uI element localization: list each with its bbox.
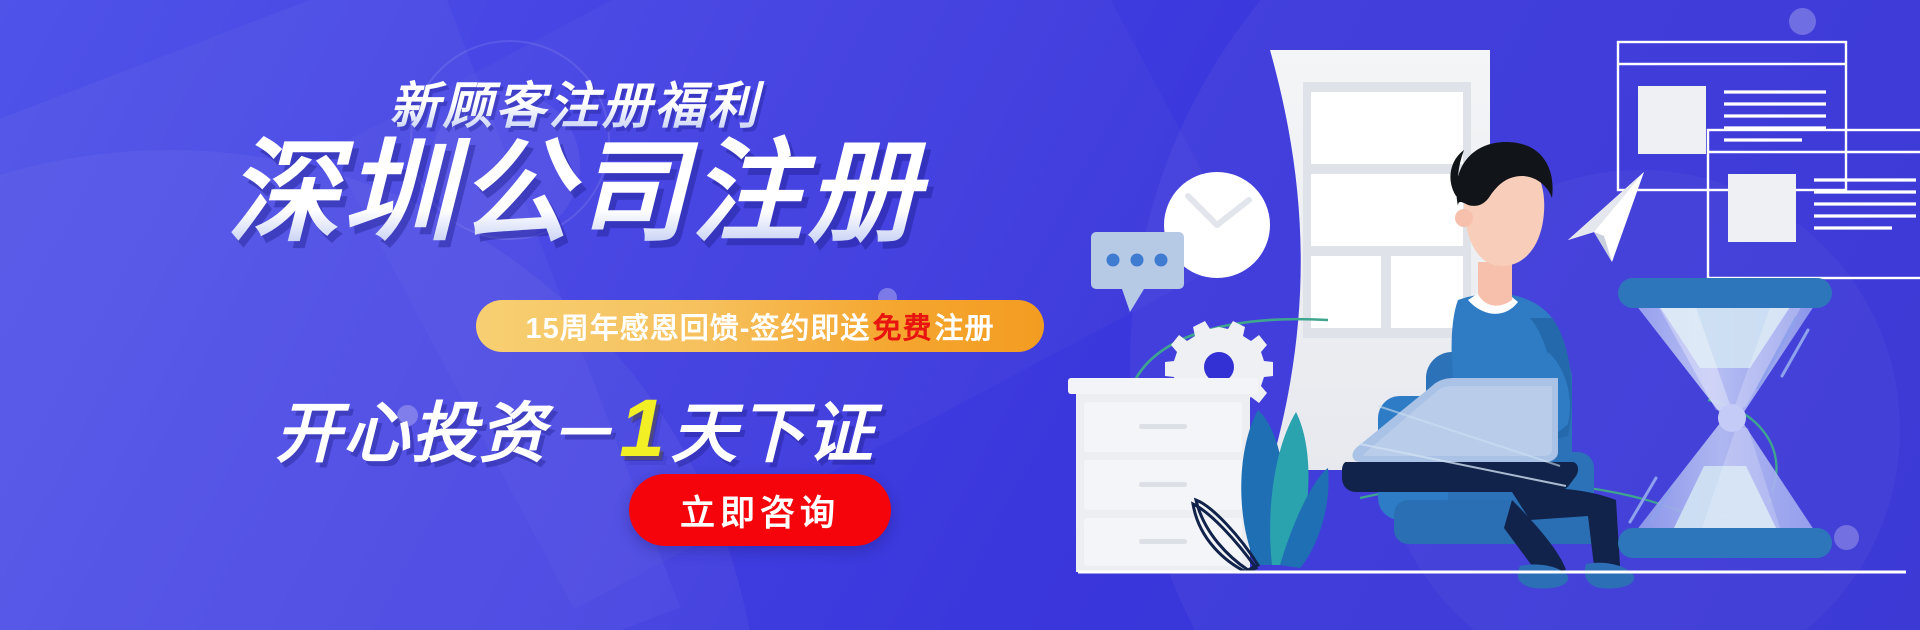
promo-pill-highlight: 免费 <box>870 305 934 347</box>
hourglass <box>1618 278 1832 558</box>
document-card-front <box>1708 130 1920 278</box>
promo-pill-prefix: 15周年感恩回馈-签约即送 <box>526 305 871 347</box>
consult-now-button[interactable]: 立即咨询 <box>629 474 891 546</box>
promo-pill: 15周年感恩回馈-签约即送 免费 注册 <box>476 300 1044 352</box>
sub-headline-number: 1 <box>615 383 671 474</box>
hero-illustration <box>1060 0 1920 630</box>
page-title: 深圳公司注册 <box>0 125 1150 262</box>
banner-copy: 新顾客注册福利 深圳公司注册 15周年感恩回馈-签约即送 免费 注册 开心投资－… <box>0 0 1150 630</box>
sub-headline: 开心投资－1天下证 <box>0 380 1150 476</box>
document-card-back <box>1618 42 1846 190</box>
sub-headline-suffix: 天下证 <box>671 396 875 470</box>
promo-pill-suffix: 注册 <box>934 305 994 347</box>
sub-headline-prefix: 开心投资－ <box>275 396 615 470</box>
paper-plane-icon <box>1568 172 1644 262</box>
promo-banner: 新顾客注册福利 深圳公司注册 15周年感恩回馈-签约即送 免费 注册 开心投资－… <box>0 0 1920 630</box>
